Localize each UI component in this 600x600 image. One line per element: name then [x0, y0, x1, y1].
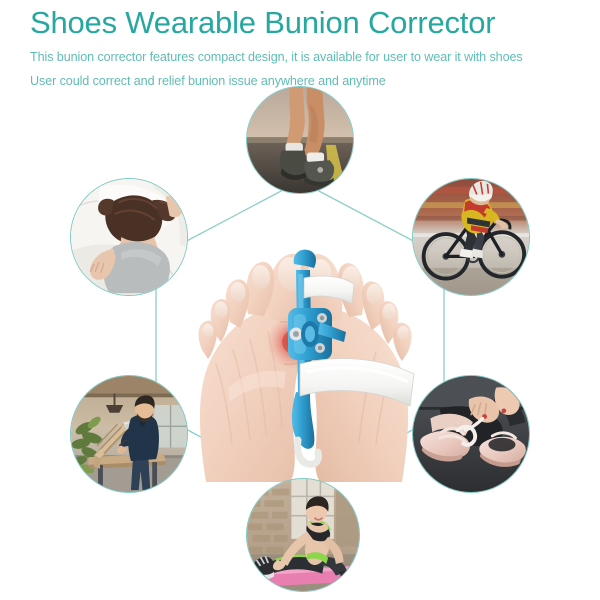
center-product-image [170, 182, 430, 482]
lifestyle-circle-ballet [412, 375, 530, 493]
header: Shoes Wearable Bunion Corrector This bun… [30, 4, 575, 92]
lifestyle-circle-stretching [246, 478, 360, 592]
lifestyle-circle-sleeping [70, 178, 188, 296]
lifestyle-circle-working [70, 375, 188, 493]
lifestyle-circle-cycling [412, 178, 530, 296]
lifestyle-circle-running [246, 86, 354, 194]
page-title: Shoes Wearable Bunion Corrector [30, 4, 575, 42]
subtitle-line-1: This bunion corrector features compact d… [30, 46, 575, 68]
product-infographic: Shoes Wearable Bunion Corrector This bun… [0, 0, 600, 600]
right-foot-with-corrector [288, 250, 414, 482]
